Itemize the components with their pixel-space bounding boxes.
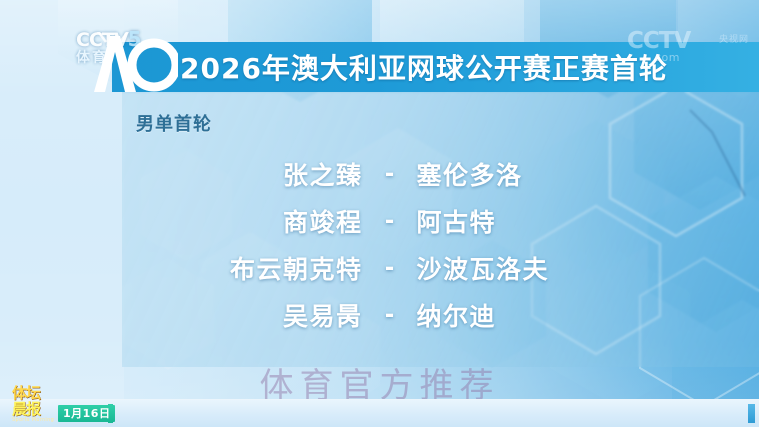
match-separator: - — [363, 208, 417, 234]
cctv-channel-number: 5 — [128, 27, 141, 51]
match-separator: - — [363, 161, 417, 187]
cctv5-channel-logo: CCTV5 体育 — [76, 30, 160, 74]
player-left: 布云朝克特 — [158, 250, 363, 286]
match-list: 张之臻 - 塞伦多洛 商竣程 - 阿古特 布云朝克特 - 沙波瓦洛夫 吴易昺 -… — [122, 150, 682, 338]
match-separator: - — [363, 255, 417, 281]
match-row: 吴易昺 - 纳尔迪 — [122, 291, 682, 338]
ticker-date-badge: 1月16日 — [58, 405, 115, 422]
ticker-logo-line2: 晨报 — [12, 401, 56, 417]
player-left: 张之臻 — [158, 156, 363, 192]
player-left: 吴易昺 — [158, 297, 363, 333]
player-right: 沙波瓦洛夫 — [417, 250, 647, 286]
page-title: 2026年澳大利亚网球公开赛正赛首轮 — [180, 47, 668, 87]
player-left: 商竣程 — [158, 203, 363, 239]
match-separator: - — [363, 302, 417, 328]
player-right: 纳尔迪 — [417, 297, 647, 333]
player-right: 塞伦多洛 — [417, 156, 647, 192]
tv-broadcast-screen: 2026年澳大利亚网球公开赛正赛首轮 CCTV5 体育 央视网 CCTV com… — [0, 0, 759, 427]
match-row: 张之臻 - 塞伦多洛 — [122, 150, 682, 197]
player-right: 阿古特 — [417, 203, 647, 239]
section-label-mens-singles: 男单首轮 — [136, 110, 212, 136]
cctv-wordmark: CCTV — [76, 29, 128, 51]
ticker-program-logo: 体坛 晨报 Sports Morning — [12, 385, 56, 425]
ticker-logo-english: Sports Morning — [12, 417, 56, 423]
match-row: 布云朝克特 - 沙波瓦洛夫 — [122, 244, 682, 291]
ticker-logo-line1: 体坛 — [12, 385, 56, 401]
title-bar: 2026年澳大利亚网球公开赛正赛首轮 — [112, 42, 759, 92]
ticker-scroll-caret[interactable] — [748, 404, 755, 423]
match-row: 商竣程 - 阿古特 — [122, 197, 682, 244]
cctv-sports-label: 体育 — [76, 50, 160, 66]
